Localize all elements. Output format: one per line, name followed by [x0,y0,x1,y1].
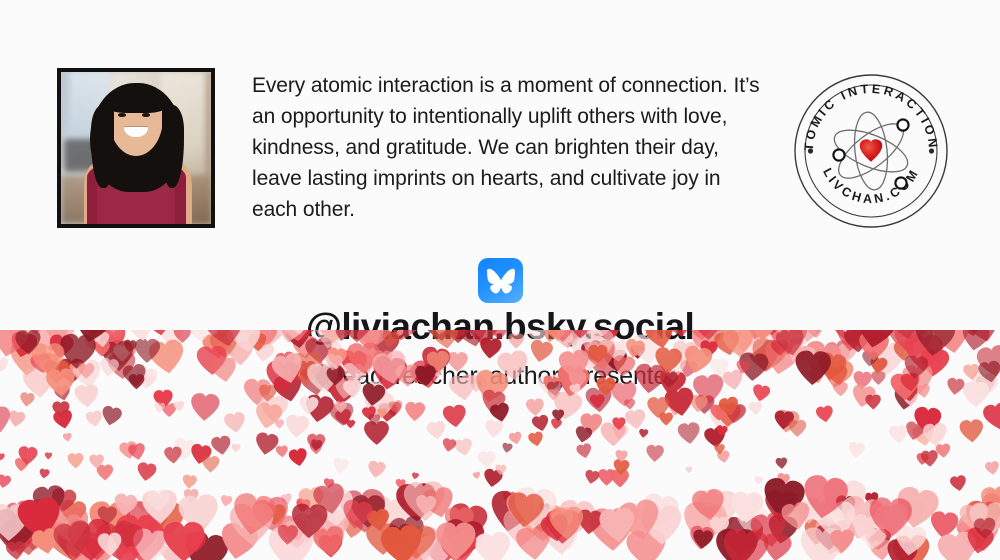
heart-shape [685,466,692,473]
heart-shape [119,441,139,461]
heart-shape [314,488,356,529]
heart-shape [136,462,157,483]
heart-shape [106,506,118,518]
heart-shape [527,431,544,448]
heart-shape [31,498,57,523]
heart-shape [836,494,886,543]
heart-shape [868,497,912,540]
heart-shape [980,486,1000,516]
heart-shape [774,409,800,434]
heart-shape [501,508,543,548]
heart-shape [67,518,113,560]
heart-shape [173,400,185,412]
heart-shape [760,476,806,521]
heart-shape [835,495,856,515]
role-tagline: Head Teacher, author, presenter [0,362,1000,391]
heart-shape [97,532,122,556]
heart-shape [340,498,374,531]
heart-shape [346,420,355,429]
heart-shape [14,458,29,472]
portrait-eye-right [142,113,150,117]
heart-shape [415,494,437,515]
heart-shape [721,527,769,560]
heart-shape [689,395,708,414]
heart-shape [526,398,545,416]
heart-shape [611,423,629,441]
heart-shape [677,422,701,445]
heart-shape [483,468,504,488]
heart-shape [754,476,763,485]
heart-shape [647,397,669,418]
heart-shape [538,502,551,514]
heart-shape [545,504,572,530]
heart-shape [277,513,316,551]
heart-shape [697,502,703,507]
heart-shape [949,474,967,492]
heart-shape [961,528,987,554]
heart-shape [870,539,893,560]
heart-shape [812,516,855,558]
heart-shape [421,486,457,521]
heart-shape [911,423,936,448]
heart-shape [956,521,976,541]
heart-shape [659,412,673,425]
heart-shape [663,391,691,418]
bluesky-butterfly-icon[interactable] [478,258,523,303]
heart-shape [386,402,402,417]
heart-shape [580,413,603,435]
heart-shape [761,533,792,560]
heart-shape [440,529,479,560]
heart-shape [142,489,178,524]
atom-heart-nucleus [860,139,883,162]
heart-shape [776,472,790,486]
heart-shape [815,500,858,542]
heart-shape [130,527,171,560]
heart-shape [965,500,1000,535]
portrait-fringe [105,87,168,113]
heart-shape [388,399,404,415]
heart-shape [766,514,799,546]
heart-shape [848,441,866,458]
heart-shape [764,489,798,522]
heart-shape [380,524,424,560]
heart-shape [849,512,882,544]
logo-dot-right [929,148,934,153]
heart-shape [335,401,347,413]
heart-shape [53,513,83,542]
heart-shape [268,526,314,560]
heart-shape [39,468,50,479]
bluesky-handle[interactable]: @liviachan.bsky.social [0,306,1000,348]
heart-shape [231,444,240,453]
heart-shape [710,404,727,421]
heart-shape [116,515,160,557]
heart-shape [626,528,668,560]
heart-shape [32,484,67,518]
heart-shape [0,508,38,554]
heart-shape [783,491,791,499]
heart-shape [487,489,534,535]
heart-shape [749,510,789,549]
heart-shape [148,503,184,538]
heart-shape [411,472,419,480]
heart-shape [111,524,143,555]
heart-shape [903,392,918,407]
heart-shape [540,513,571,543]
heart-shape [688,525,714,551]
portrait-image [61,72,211,224]
heart-shape [531,414,550,433]
heart-shape [0,474,12,489]
heart-shape [210,435,232,456]
heart-shape [407,526,439,557]
heart-shape [426,420,447,441]
heart-shape [735,505,768,537]
heart-shape [85,410,104,428]
heart-shape [867,527,891,551]
heart-shape [800,473,850,521]
heart-shape [63,432,73,442]
heart-shape [615,449,628,462]
heart-shape [692,529,713,550]
heart-shape [0,519,38,555]
heart-shape [965,526,995,556]
heart-shape [425,536,458,560]
heart-shape [368,414,380,425]
heart-shape [610,469,629,487]
heart-shape [624,408,647,430]
heart-shape [985,461,1000,476]
heart-shape [202,523,207,528]
heart-shape [478,451,496,468]
heart-shape [184,489,199,503]
heart-shape [5,499,34,527]
heart-shape [97,464,114,480]
heart-shape [127,442,147,461]
heart-shape [329,402,355,427]
heart-shape [680,500,729,548]
heart-shape [154,402,166,414]
heart-shape [802,498,841,536]
heart-shape [7,410,26,428]
heart-shape [156,530,197,560]
heart-shape [716,529,758,560]
heart-shape [403,481,445,522]
heart-shape [377,408,388,418]
heart-shape [363,494,414,543]
heart-shape [89,454,104,468]
heart-shape [641,505,682,545]
heart-shape [923,423,948,447]
heart-shape [820,477,868,523]
heart-shape [558,499,595,535]
heart-shape [312,525,348,560]
heart-shape [865,394,881,409]
heart-shape [717,450,731,464]
heart-shape [319,526,325,531]
heart-shape [361,406,377,422]
logo-dot-left [808,148,813,153]
heart-shape [318,534,343,558]
heart-shape [358,495,385,521]
heart-shape [45,517,95,560]
heart-shape [229,503,274,547]
heart-shape [18,519,53,553]
heart-shape [366,508,391,533]
heart-shape [218,521,260,560]
heart-shape [395,479,405,489]
heart-shape [613,459,630,476]
heart-shape [718,396,740,418]
heart-shape [251,495,293,536]
heart-shape [865,492,880,506]
heart-shape [703,426,727,449]
heart-shape [902,500,927,525]
heart-shape [288,448,308,468]
heart-shape [615,505,641,530]
atomic-interactions-logo: ATOMIC INTERACTIONS LIVCHAN.COM [793,73,949,229]
heart-shape [780,501,812,532]
heart-shape [342,518,364,540]
portrait-hair-left [91,105,114,187]
heart-shape [0,405,13,435]
heart-shape [264,504,286,525]
heart-shape [277,525,298,545]
heart-shape [89,501,131,542]
heart-shape [664,386,697,418]
heart-shape [589,507,636,552]
heart-shape [716,425,728,437]
heart-shape [386,529,434,560]
heart-shape [695,395,715,414]
heart-shape [0,453,5,460]
heart-shape [307,434,326,452]
heart-shape [307,509,346,547]
heart-shape [230,491,278,537]
heart-shape [521,505,561,544]
heart-shape [415,535,452,560]
heart-shape [295,498,311,514]
heart-shape [45,452,53,459]
heart-shape [512,486,558,530]
heart-shape [598,469,615,486]
heart-shape [793,496,823,525]
heart-shape [388,515,427,553]
heart-shape [506,491,545,529]
heart-shape [574,425,593,444]
heart-shape [115,546,138,560]
heart-shape [323,514,350,540]
heart-shape [788,420,806,437]
heart-shape [76,532,118,560]
heart-shape [639,492,680,532]
heart-shape [291,503,328,539]
heart-shape [624,399,635,410]
heart-shape [396,483,437,523]
heart-shape [351,495,385,528]
heart-shape [100,405,123,427]
heart-shape [366,523,400,556]
heart-shape [616,498,663,544]
heart-shape [186,532,207,552]
heart-shape [419,483,435,499]
heart-shape [178,493,220,534]
heart-shape [959,419,984,443]
heart-shape [4,513,49,557]
heart-shape [550,418,562,430]
heart-shape [489,402,511,424]
heart-shape [484,420,503,439]
heart-shape [364,421,389,445]
heart-shape [980,493,1000,530]
heart-shape [163,522,204,560]
heart-shape [691,488,726,522]
portrait-photo [57,68,215,228]
heart-shape [552,409,564,421]
heart-shape [775,457,787,469]
heart-shape [959,503,990,533]
heart-shape [334,408,353,427]
heart-shape [298,487,325,513]
heart-shape [189,443,213,466]
heart-shape [545,509,581,544]
heart-shape [584,469,600,485]
heart-shape [904,421,926,442]
heart-shape [280,493,293,506]
heart-shape [377,403,398,423]
heart-shape [17,446,38,466]
heart-shape [697,489,740,530]
heart-shape [576,443,593,460]
heart-shape [31,527,61,556]
heart-shape [18,514,31,527]
heart-shape [441,518,486,560]
heart-shape [67,453,83,469]
heart-shape [95,519,140,560]
heart-shape [59,499,87,526]
heart-shape [556,528,580,551]
heart-shape [50,487,77,514]
heart-shape [52,409,74,431]
heart-shape [936,530,979,560]
heart-shape [815,405,834,423]
heart-shape [893,485,941,532]
heart-shape [190,393,220,422]
heart-shape [929,511,959,540]
heart-shape [52,401,69,418]
heart-shape [639,429,649,439]
heart-shape [854,510,877,532]
heart-shape [864,528,888,551]
heart-shape [181,529,231,560]
heart-shape [503,493,535,524]
heart-shape [599,507,636,543]
heart-shape [66,532,110,560]
heart-shape [97,506,117,525]
heart-shape [303,393,335,424]
heart-shape [893,524,927,557]
heart-shape [323,478,335,490]
heart-shape [730,491,763,523]
heart-shape [454,437,474,457]
heart-shape [957,508,1000,555]
heart-shape [874,502,910,537]
heart-shape [501,442,513,453]
heart-shape [62,537,86,560]
heart-shape [576,509,604,536]
heart-shape [774,410,795,430]
heart-shape [123,523,167,560]
heart-shape [870,518,898,545]
heart-shape [495,465,506,476]
heart-shape [723,402,747,425]
heart-shape [340,488,388,534]
heart-shape [442,404,467,428]
heart-shape [913,406,942,434]
heart-shape [158,497,172,511]
heart-shape [259,394,289,423]
heart-shape [310,439,322,451]
heart-shape [889,425,909,444]
heart-shape [830,529,854,553]
heart-shape [551,390,584,422]
heart-shape [310,442,323,454]
heart-shape [800,527,844,560]
heart-shape [935,443,951,458]
heart-shape [386,532,426,560]
heart-shape [709,516,729,535]
heart-shape [480,388,507,414]
heart-shape [253,401,284,431]
heart-shape [921,450,939,467]
heart-shape [5,540,26,560]
heart-shape [714,444,725,455]
heart-shape [815,524,842,550]
heart-shape [700,502,725,526]
heart-shape [803,518,832,546]
heart-shape [52,520,95,560]
heart-shape [709,407,736,433]
heart-shape [545,525,576,555]
heart-shape [405,402,426,422]
heart-shape [973,517,996,539]
heart-shape [162,506,173,517]
quote-text: Every atomic interaction is a moment of … [252,70,760,225]
heart-shape [601,422,626,447]
heart-shape [283,518,309,543]
heart-shape [364,392,394,421]
heart-shape [57,529,91,560]
heart-shape [16,496,63,541]
heart-shape [724,517,733,526]
heart-shape [275,445,288,458]
heart-shape [892,535,930,560]
heart-shape [398,524,436,560]
heart-shape [646,445,664,463]
heart-shape [275,419,285,428]
heart-shape [715,402,741,427]
heart-shape [284,414,310,439]
heart-shape [223,411,246,434]
heart-shape [474,531,512,560]
heart-shape [508,431,523,446]
heart-shape [384,523,416,554]
heart-shape [18,511,56,548]
heart-shape [146,489,171,513]
heart-shape [969,502,1000,538]
portrait-eye-left [118,113,126,117]
